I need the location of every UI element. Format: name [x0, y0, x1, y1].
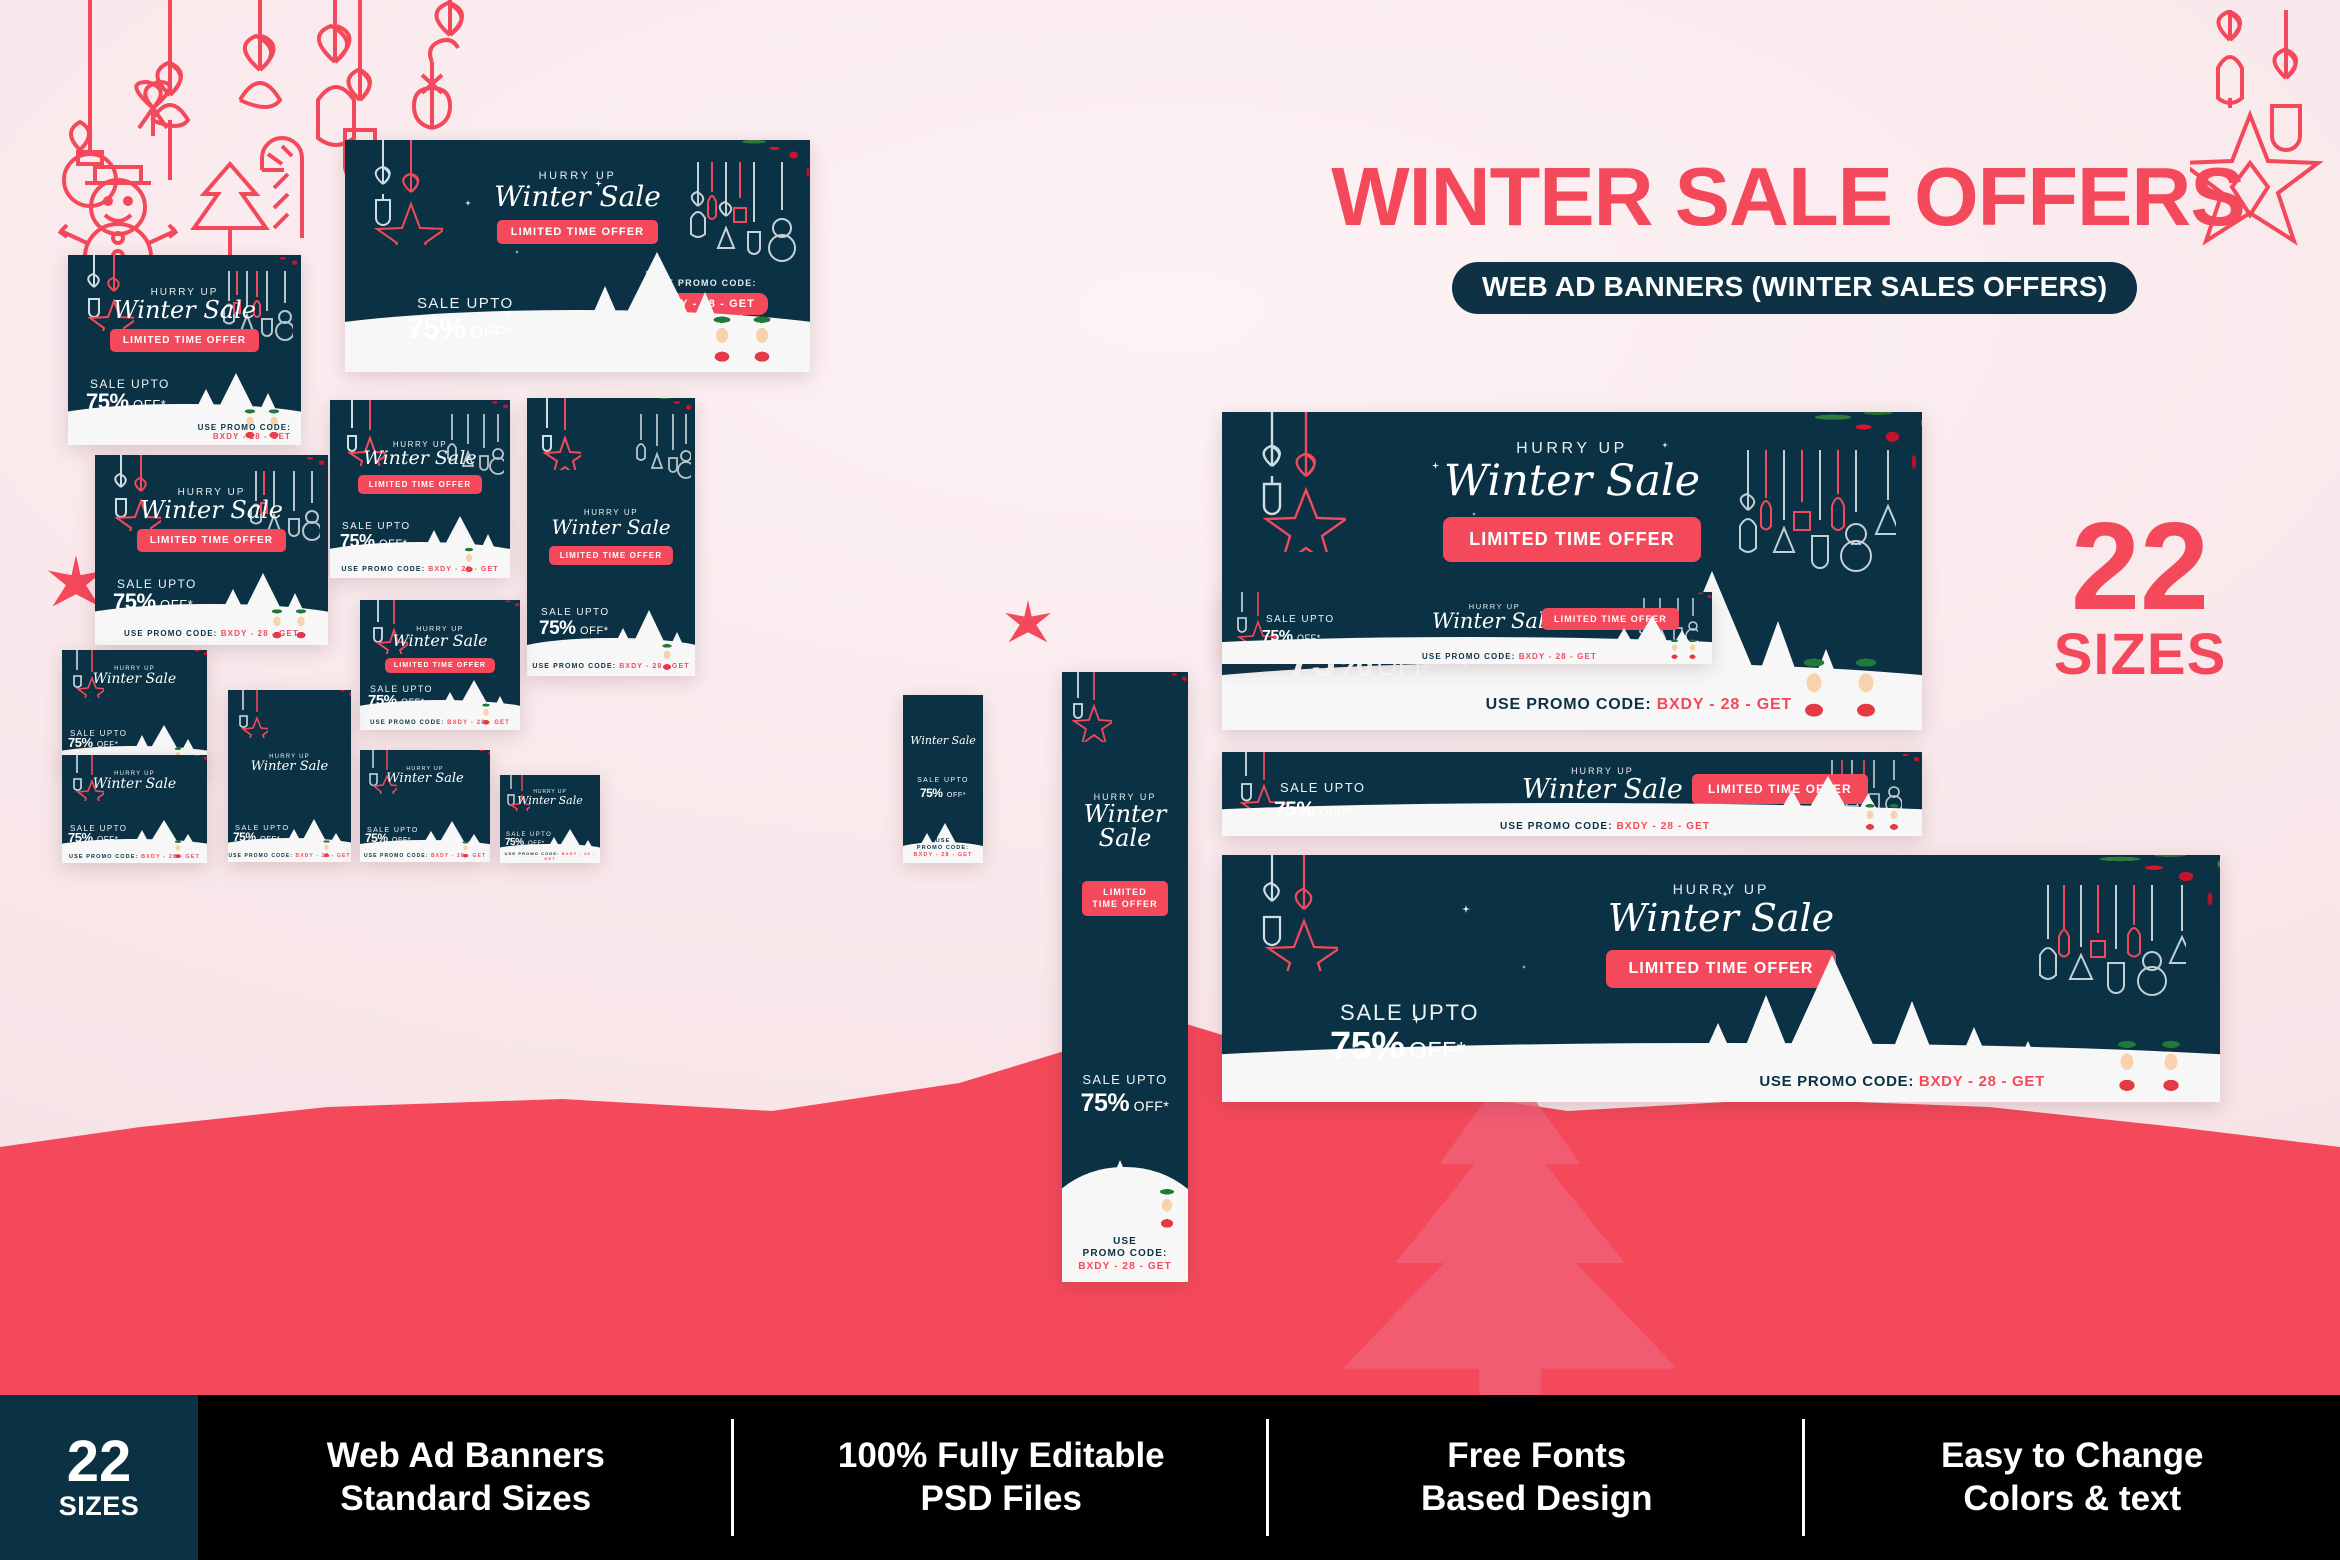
- sizes-count-number: 22: [2071, 498, 2209, 636]
- banner-leaderboard-hero[interactable]: HURRY UP Winter Sale LIMITED TIME OFFER …: [345, 140, 810, 372]
- hanging-ornaments-right: [633, 414, 691, 494]
- discount-group: 75% OFF*: [68, 829, 119, 847]
- pine-trees: [545, 252, 775, 362]
- use-promo-code-label: USE PROMO CODE:: [1759, 1073, 1914, 1090]
- banner-button-125x125[interactable]: HURRY UP Winter Sale SALE UPTO 75% OFF* …: [360, 750, 490, 862]
- promo-code-value: BXDY - 28 - GET: [447, 720, 510, 726]
- promo-code-value: BXDY - 28 - GET: [1519, 652, 1597, 661]
- garland-decor: [313, 690, 351, 730]
- discount-off-label: OFF*: [1134, 1098, 1170, 1114]
- discount-percent: 75%: [68, 830, 93, 845]
- promo-line: USE PROMO CODE: BXDY - 28 - GET: [330, 566, 510, 573]
- discount-percent: 75%: [920, 786, 943, 800]
- promo-line: USE PROMO CODE: BXDY - 28 - GET: [95, 629, 328, 638]
- discount-group: 75% OFF*: [68, 734, 119, 752]
- hanging-ornaments: [234, 690, 268, 738]
- discount-group: 75% OFF*: [1262, 628, 1321, 646]
- banner-billboard-right[interactable]: HURRY UP Winter Sale LIMITED TIME OFFER …: [1222, 412, 1922, 730]
- sale-upto-label: SALE UPTO: [1062, 1072, 1188, 1087]
- banner-mini[interactable]: HURRY UP Winter Sale SALE UPTO 75% OFF* …: [500, 775, 600, 863]
- footer-feature-2-line1: 100% Fully Editable: [838, 1435, 1165, 1478]
- headline-group: HURRY UP Winter Sale: [228, 754, 351, 773]
- pine-trees: [434, 680, 518, 724]
- sale-block: SALE UPTO 75% OFF*: [1062, 1072, 1188, 1118]
- promo-line: USE PROMO CODE: BXDY - 28 - GET: [903, 838, 983, 859]
- footer-feature-1-line1: Web Ad Banners: [327, 1435, 605, 1478]
- promo-line: USE PROMO CODE: BXDY - 28 - GET: [360, 853, 490, 859]
- winter-sale-title: Winter Sale: [62, 777, 207, 791]
- time-offer-label: TIME OFFER: [1092, 899, 1158, 909]
- use-promo-code-label: USE PROMO CODE:: [1500, 821, 1613, 832]
- winter-sale-title: Winter Sale: [68, 298, 301, 322]
- page-subtitle-badge: WEB AD BANNERS (WINTER SALES OFFERS): [1452, 262, 2137, 314]
- garland-decor: [957, 695, 983, 723]
- promo-code-value: BXDY - 28 - GET: [198, 432, 291, 441]
- limited-time-offer-pill[interactable]: LIMITED TIME OFFER: [358, 475, 482, 494]
- banner-leaderboard-970x90[interactable]: HURRY UP Winter Sale LIMITED TIME OFFER …: [1222, 592, 1712, 664]
- banner-wide-skyscraper[interactable]: HURRY UP Winter Sale LIMITED TIME OFFER …: [1062, 672, 1188, 1282]
- winter-sale-title: Winter Sale: [527, 517, 695, 537]
- promo-line: USE PROMO CODE: BXDY - 28 - GET: [1062, 1236, 1188, 1274]
- limited-time-offer-pill[interactable]: LIMITED TIME OFFER: [549, 546, 673, 565]
- discount-percent: 75%: [365, 831, 388, 845]
- discount-percent: 75%: [1081, 1089, 1130, 1117]
- headline-group: HURRY UP Winter Sale: [1432, 602, 1557, 632]
- promo-code-value: BXDY - 28 - GET: [296, 853, 351, 859]
- use-promo-code-label: USE PROMO CODE:: [532, 663, 616, 670]
- use-promo-code-label: USE PROMO CODE:: [69, 854, 138, 860]
- discount-percent: 75%: [407, 312, 466, 345]
- banner-half-page[interactable]: Winter Sale SALE UPTO 75% OFF* USE PROMO…: [903, 695, 983, 863]
- use-promo-code-label: USE PROMO CODE:: [1422, 652, 1515, 661]
- winter-sale-title: Winter Sale: [228, 760, 351, 773]
- headline-group: HURRY UP Winter Sale LIMITED TIME OFFER: [360, 626, 520, 673]
- limited-label: LIMITED: [1103, 887, 1147, 897]
- discount-group: 75% OFF*: [1274, 798, 1350, 822]
- footer-feature-3-line2: Based Design: [1421, 1478, 1652, 1521]
- sale-block: SALE UPTO 75% OFF*: [903, 777, 983, 802]
- limited-time-offer-pill[interactable]: LIMITED TIME OFFER: [385, 658, 495, 673]
- discount-off-label: OFF*: [379, 538, 408, 550]
- discount-off-label: OFF*: [1319, 805, 1350, 819]
- discount-off-label: OFF*: [470, 323, 513, 342]
- headline-group: HURRY UP Winter Sale LIMITED TIME OFFER: [330, 440, 510, 494]
- promo-code-value: BXDY - 28 - GET: [221, 629, 299, 638]
- promo-line: USE PROMO CODE: BXDY - 28 - GET: [228, 853, 351, 859]
- promo-code-value: BXDY - 28 - GET: [431, 853, 486, 859]
- sale-upto-label: SALE UPTO: [1266, 614, 1335, 625]
- discount-off-label: OFF*: [260, 834, 280, 843]
- sizes-count-label: SIZES: [2015, 628, 2265, 681]
- promo-line: USE PROMO CODE: BXDY - 28 - GET: [1500, 821, 1710, 832]
- hero-headline-group: HURRY UP Winter Sale LIMITED TIME OFFER: [345, 170, 810, 244]
- winter-sale-title: Winter Sale: [1222, 460, 1922, 504]
- promo-line: USE PROMO CODE: BXDY - 28 - GET: [198, 423, 291, 441]
- promo-code-label: PROMO CODE:: [1083, 1248, 1168, 1259]
- headline-group: Winter Sale: [903, 735, 983, 746]
- promo-line: USE PROMO CODE: BXDY - 28 - GET: [527, 663, 695, 670]
- discount-group: 75% OFF*: [365, 829, 411, 847]
- discount-off-label: OFF*: [392, 837, 411, 844]
- sale-upto-label: SALE UPTO: [417, 295, 514, 312]
- headline-group: HURRY UP Winter Sale: [62, 666, 207, 686]
- pine-trees: [128, 820, 204, 858]
- discount-group: 75% OFF*: [340, 531, 408, 552]
- headline-group: HURRY UP Winter Sale LIMITED TIME OFFER: [95, 487, 328, 552]
- promo-line: USE PROMO CODE: BXDY - 28 - GET: [1486, 696, 1792, 714]
- banner-button-180x150[interactable]: HURRY UP Winter Sale SALE UPTO 75% OFF* …: [228, 690, 351, 862]
- sizes-count-display: 22 SIZES: [2015, 510, 2265, 681]
- limited-time-offer-pill[interactable]: LIMITED TIME OFFER: [137, 529, 286, 552]
- discount-percent: 75%: [1274, 798, 1315, 821]
- footer-feature-3: Free Fonts Based Design: [1269, 1395, 1805, 1560]
- candy-cane-icon: [248, 110, 328, 250]
- use-promo-code-label: USE PROMO CODE:: [341, 566, 425, 573]
- footer-feature-4-line1: Easy to Change: [1941, 1435, 2204, 1478]
- promo-code-value: BXDY - 28 - GET: [914, 852, 973, 858]
- winter-sale-title: Winter Sale: [345, 183, 810, 212]
- discount-off-label: OFF*: [947, 792, 966, 799]
- promo-line: USE PROMO CODE: BXDY - 28 - GET: [1422, 652, 1597, 661]
- discount-group: 75% OFF*: [233, 828, 280, 846]
- footer-badge: 22 SIZES: [0, 1395, 198, 1560]
- limited-time-offer-pill[interactable]: LIMITED TIME OFFER: [1443, 517, 1701, 562]
- pine-trees: [1762, 776, 1902, 828]
- banner-small-square[interactable]: HURRY UP Winter Sale SALE UPTO 75% OFF* …: [62, 650, 207, 770]
- pine-trees: [414, 516, 510, 570]
- discount-percent: 75%: [113, 589, 156, 614]
- discount-off-label: OFF*: [133, 397, 166, 412]
- pine-trees: [1070, 1160, 1156, 1216]
- discount-off-label: OFF*: [1409, 1037, 1466, 1063]
- limited-time-offer-pill[interactable]: LIMITED TIME OFFER: [497, 220, 658, 244]
- promo-code-value: BXDY - 28 - GET: [428, 566, 498, 573]
- footer-feature-4: Easy to Change Colors & text: [1805, 1395, 2340, 1560]
- discount-group: 75% OFF*: [539, 618, 609, 640]
- use-promo-code-label: USE PROMO CODE:: [364, 853, 429, 859]
- banner-billboard-bottom[interactable]: HURRY UP Winter Sale LIMITED TIME OFFER …: [1222, 855, 2220, 1102]
- discount-percent: 75%: [233, 830, 256, 844]
- sale-upto-label: SALE UPTO: [903, 777, 983, 784]
- hurry-up-label: HURRY UP: [1222, 881, 2220, 897]
- banner-large-rectangle[interactable]: HURRY UP Winter Sale LIMITED TIME OFFER …: [527, 398, 695, 676]
- bow-icon-left: [108, 80, 198, 140]
- discount-percent: 75%: [86, 389, 129, 414]
- sale-title: Sale: [1062, 826, 1188, 850]
- banner-small-square-b[interactable]: HURRY UP Winter Sale SALE UPTO 75% OFF* …: [62, 755, 207, 863]
- pine-trees: [205, 573, 325, 635]
- discount-group: 75% OFF*: [505, 832, 545, 850]
- banner-vertical-rectangle[interactable]: HURRY UP Winter Sale LIMITED TIME OFFER …: [360, 600, 520, 730]
- pine-trees: [605, 610, 695, 668]
- poster-canvas: HURRY UP Winter Sale LIMITED TIME OFFER …: [0, 0, 2340, 1560]
- hanging-ornaments: [535, 398, 581, 470]
- winter-sale-title: Winter Sale: [360, 772, 490, 785]
- footer-feature-1: Web Ad Banners Standard Sizes: [198, 1395, 734, 1560]
- limited-time-offer-pill[interactable]: LIMITED TIME OFFER: [110, 329, 259, 352]
- winter-sale-title: Winter Sale: [360, 633, 520, 649]
- discount-percent: 75%: [1330, 1025, 1405, 1067]
- winter-sale-title: Winter Sale: [62, 672, 207, 686]
- use-promo-code-label: USE PROMO CODE:: [228, 853, 293, 859]
- limited-time-offer-pill[interactable]: LIMITED TIME OFFER: [1082, 881, 1168, 916]
- promo-code-value: BXDY - 28 - GET: [1617, 821, 1711, 832]
- banner-square-300x250-b[interactable]: HURRY UP Winter Sale LIMITED TIME OFFER …: [95, 455, 328, 645]
- use-promo-code-label: USE PROMO CODE:: [198, 423, 291, 432]
- discount-off-label: OFF*: [580, 625, 609, 637]
- discount-off-label: OFF*: [401, 697, 425, 707]
- headline-group: HURRY UP Winter Sale LIMITED TIME OFFER: [527, 508, 695, 565]
- footer-feature-2: 100% Fully Editable PSD Files: [734, 1395, 1270, 1560]
- winter-sale-title: Winter Sale: [1222, 899, 2220, 938]
- pine-trees: [282, 819, 350, 857]
- winter-sale-title: Winter Sale: [1522, 776, 1683, 804]
- headline-group: HURRY UP Winter Sale: [500, 789, 600, 806]
- promo-code-value: BXDY - 28 - GET: [1078, 1261, 1172, 1272]
- banner-square-300x250[interactable]: HURRY UP Winter Sale LIMITED TIME OFFER …: [68, 255, 301, 445]
- headline-group: HURRY UP Winter Sale: [62, 771, 207, 791]
- promo-code-value: BXDY - 28 - GET: [619, 663, 689, 670]
- discount-group: 75% OFF*: [407, 312, 513, 346]
- footer-badge-label: SIZES: [59, 1491, 140, 1522]
- winter-title: Winter: [1062, 802, 1188, 826]
- promo-code-value: BXDY - 28 - GET: [1657, 696, 1792, 713]
- promo-line: USE PROMO CODE: BXDY - 28 - GET: [360, 720, 520, 726]
- footer-feature-4-line2: Colors & text: [1963, 1478, 2181, 1521]
- promo-line: USE PROMO CODE: BXDY - 28 - GET: [500, 851, 600, 861]
- discount-group: 75% OFF*: [113, 589, 193, 615]
- footer-bar: 22 SIZES Web Ad Banners Standard Sizes 1…: [0, 1395, 2340, 1560]
- footer-badge-number: 22: [67, 1433, 132, 1491]
- winter-sale-title: Winter Sale: [95, 498, 328, 522]
- use-promo-code-label: USE PROMO CODE:: [370, 720, 444, 726]
- headline-group: HURRY UP Winter Sale LIMITED TIME OFFER: [68, 287, 301, 352]
- winter-sale-title: Winter Sale: [330, 449, 510, 468]
- winter-sale-title: Winter Sale: [500, 795, 600, 806]
- use-promo-code-label: USE PROMO CODE:: [1486, 696, 1652, 713]
- pine-trees: [418, 821, 488, 857]
- garland-decor: [1136, 672, 1188, 724]
- footer-feature-1-line2: Standard Sizes: [340, 1478, 591, 1521]
- winter-sale-title: Winter Sale: [1432, 611, 1557, 632]
- banner-medium-rectangle[interactable]: HURRY UP Winter Sale LIMITED TIME OFFER …: [330, 400, 510, 578]
- promo-line: USE PROMO CODE: BXDY - 28 - GET: [1759, 1073, 2045, 1090]
- use-label: USE: [936, 838, 951, 844]
- promo-code-value: BXDY - 28 - GET: [141, 854, 200, 860]
- banner-leaderboard-728x90[interactable]: HURRY UP Winter Sale LIMITED TIME OFFER …: [1222, 752, 1922, 836]
- discount-percent: 75%: [368, 692, 397, 709]
- winter-sale-title: Winter Sale: [903, 735, 983, 746]
- use-promo-code-label: USE PROMO CODE:: [124, 629, 217, 638]
- promo-code-value: BXDY - 28 - GET: [1919, 1073, 2045, 1090]
- discount-percent: 75%: [340, 531, 375, 551]
- sale-upto-label: SALE UPTO: [1340, 1000, 1479, 1026]
- discount-off-label: OFF*: [1297, 633, 1321, 643]
- discount-percent: 75%: [1262, 628, 1293, 645]
- discount-off-label: OFF*: [528, 841, 545, 847]
- discount-percent: 75%: [68, 735, 93, 750]
- discount-off-label: OFF*: [160, 597, 193, 612]
- headline-group: HURRY UP Winter Sale: [1522, 766, 1683, 804]
- footer-feature-2-line2: PSD Files: [921, 1478, 1082, 1521]
- headline-group: HURRY UP Winter Sale: [360, 766, 490, 785]
- headline-group: HURRY UP Winter Sale LIMITED TIME OFFER: [1062, 792, 1188, 916]
- hanging-ornaments: [1068, 672, 1112, 742]
- use-label: USE: [1113, 1236, 1137, 1247]
- discount-group: 75% OFF*: [86, 389, 166, 415]
- discount-group: 75% OFF*: [368, 692, 425, 710]
- discount-percent: 75%: [539, 618, 576, 639]
- promo-code-label: PROMO CODE:: [917, 845, 969, 851]
- pine-trees: [1602, 616, 1706, 658]
- discount-percent: 75%: [505, 837, 524, 848]
- footer-feature-3-line1: Free Fonts: [1447, 1435, 1626, 1478]
- discount-off-label: OFF*: [97, 835, 119, 844]
- sale-upto-label: SALE UPTO: [1280, 780, 1365, 795]
- discount-group: 75% OFF*: [1330, 1025, 1466, 1068]
- pine-trees: [1662, 955, 2062, 1090]
- headline-group: HURRY UP Winter Sale LIMITED TIME OFFER: [1222, 440, 1922, 562]
- discount-off-label: OFF*: [97, 740, 119, 749]
- promo-line: USE PROMO CODE: BXDY - 28 - GET: [62, 854, 207, 860]
- sale-upto-label: SALE UPTO: [541, 607, 610, 618]
- page-title: WINTER SALE OFFERS: [1258, 155, 2318, 238]
